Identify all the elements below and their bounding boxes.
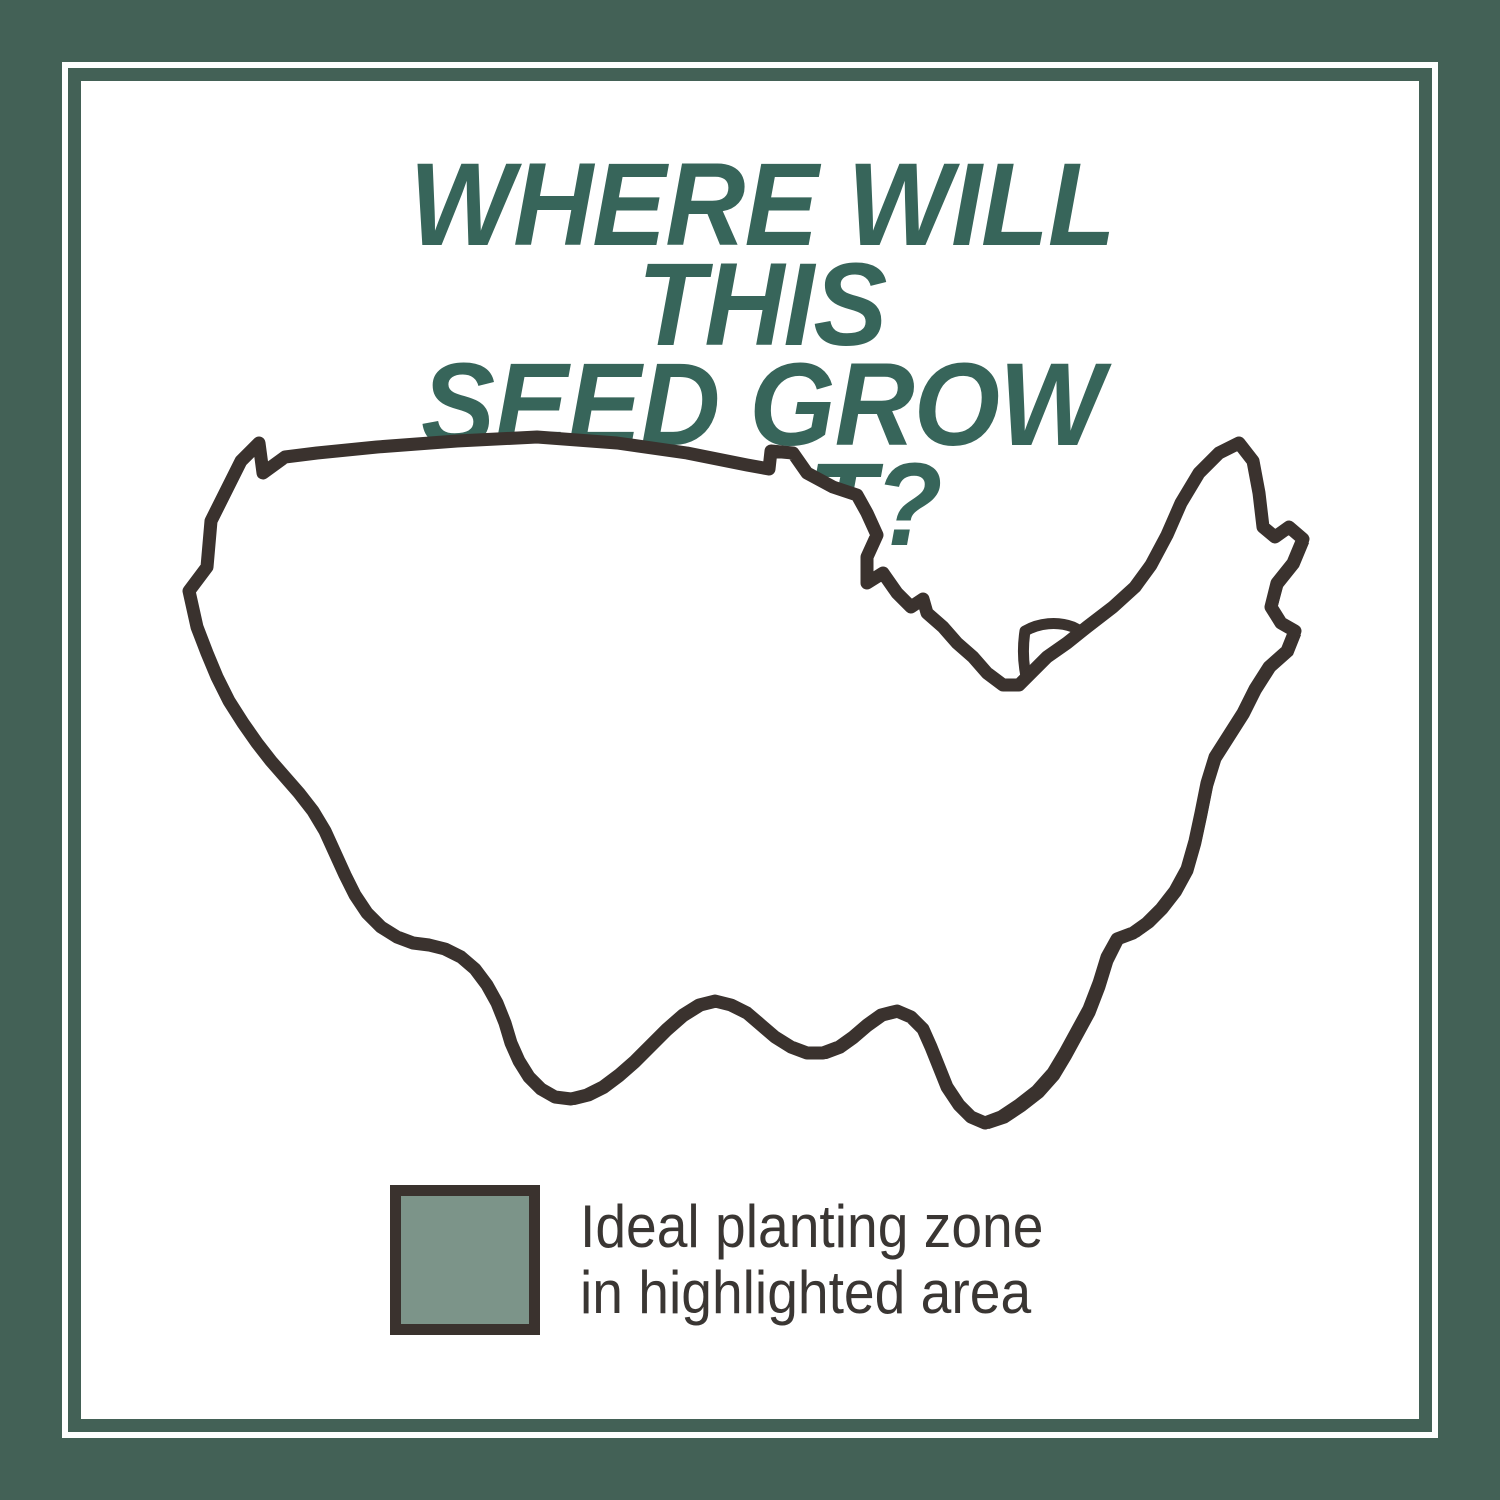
border-md-de [1233,813,1243,857]
legend-label: Ideal planting zone in highlighted area [580,1194,1043,1326]
map-legend: Ideal planting zone in highlighted area [390,1185,1084,1335]
map-svg [167,417,1347,1157]
map-landmass [167,417,1347,1157]
us-planting-zone-map [167,417,1347,1157]
legend-color-swatch [390,1185,540,1335]
poster-content: WHERE WILL THIS SEED GROW BEST? [87,87,1413,1413]
map-land-outline [189,437,1303,1123]
border-ga-fl [1069,1085,1181,1093]
poster-canvas: WHERE WILL THIS SEED GROW BEST? [0,0,1500,1500]
border-nc-sc [1113,961,1175,983]
border-sc-ga [1113,961,1159,1027]
